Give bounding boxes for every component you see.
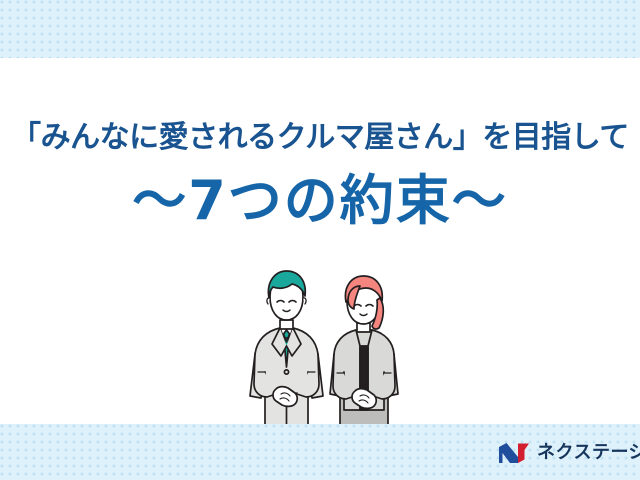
- male-staff-figure: [250, 271, 323, 428]
- brand-wordmark: ネクステージ: [537, 441, 640, 465]
- headline-line-1: 「みんなに愛されるクルマ屋さん」を目指して: [0, 118, 640, 158]
- female-staff-figure: [330, 276, 398, 436]
- staff-illustration: [236, 268, 416, 436]
- headline-line-2: ～7つの約束～: [0, 170, 640, 232]
- nextage-n-mark-icon: [498, 441, 530, 465]
- brand-logo: ネクステージ: [498, 440, 640, 466]
- staff-illustration-svg: [236, 268, 416, 436]
- top-dotted-band: [0, 0, 640, 58]
- promise-banner: 「みんなに愛されるクルマ屋さん」を目指して ～7つの約束～: [0, 0, 640, 480]
- headline-block: 「みんなに愛されるクルマ屋さん」を目指して ～7つの約束～: [0, 118, 640, 232]
